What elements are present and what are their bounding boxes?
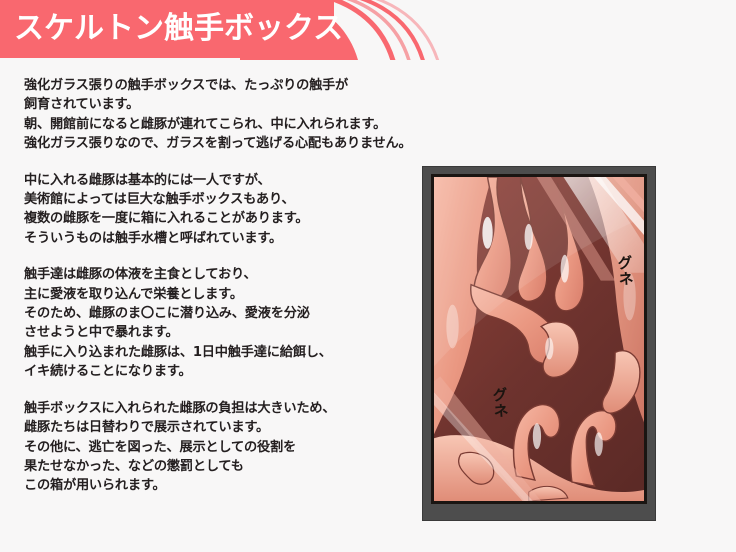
title-banner: スケルトン触手ボックス xyxy=(0,0,736,60)
illustration-inner-frame: グネ グネ xyxy=(431,174,647,504)
tentacle-artwork-svg xyxy=(434,177,644,501)
paragraph-3: 触手達は雌豚の体液を主食としており、 主に愛液を取り込んで栄養とします。 そのた… xyxy=(24,265,424,381)
body-text-block: 強化ガラス張りの触手ボックスでは、たっぷりの触手が 飼育されています。 朝、開館… xyxy=(24,76,424,513)
illustration-panel: グネ グネ xyxy=(422,166,656,521)
tentacle-box-illustration: グネ グネ xyxy=(434,177,644,501)
paragraph-4: 触手ボックスに入れられた雌豚の負担は大きいため、 雌豚たちは日替わりで展示されて… xyxy=(24,399,424,496)
page-title: スケルトン触手ボックス xyxy=(14,4,343,54)
paragraph-1: 強化ガラス張りの触手ボックスでは、たっぷりの触手が 飼育されています。 朝、開館… xyxy=(24,76,424,154)
paragraph-2: 中に入れる雌豚は基本的には一人ですが、 美術館によっては巨大な触手ボックスもあり… xyxy=(24,171,424,249)
